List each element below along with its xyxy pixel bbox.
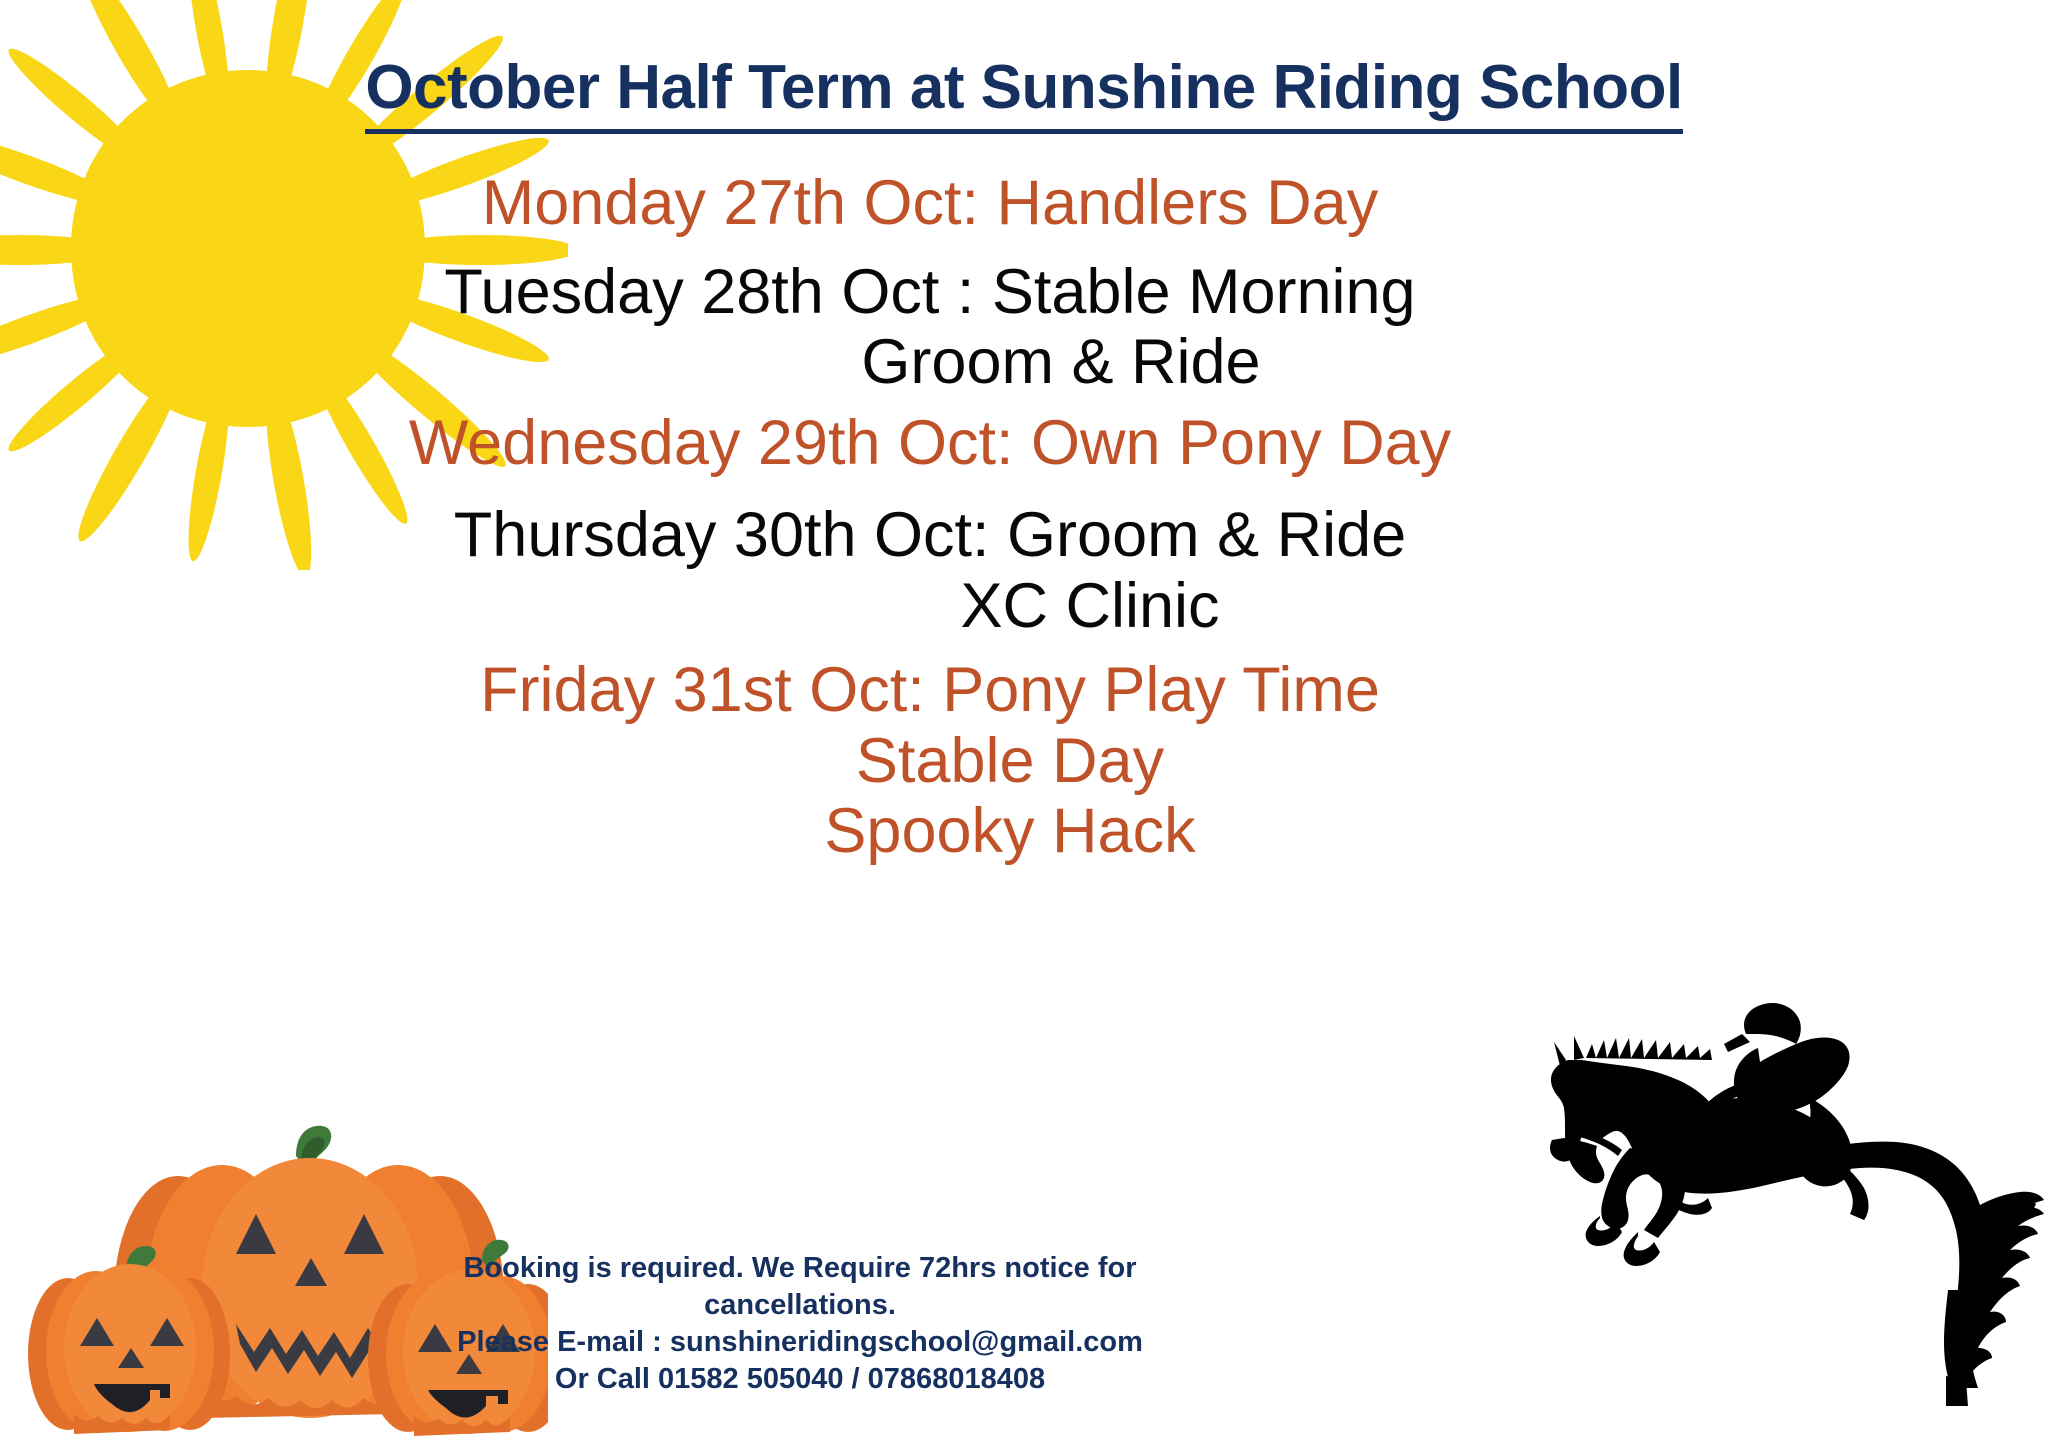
schedule-line-thursday-2: XC Clinic [282,571,1578,642]
spacer [282,641,1578,655]
schedule-list: Monday 27th Oct: Handlers Day Tuesday 28… [282,168,1578,867]
schedule-line-tuesday-1: Tuesday 28th Oct : Stable Morning [282,257,1578,328]
booking-notice: Booking is required. We Require 72hrs no… [430,1250,1170,1324]
page-title: October Half Term at Sunshine Riding Sch… [0,52,2048,134]
schedule-item-wednesday: Wednesday 29th Oct: Own Pony Day [282,408,1578,479]
schedule-item-monday: Monday 27th Oct: Handlers Day [282,168,1578,239]
schedule-item-friday: Friday 31st Oct: Pony Play Time Stable D… [282,655,1578,867]
spacer [282,239,1578,257]
schedule-line-thursday-1: Thursday 30th Oct: Groom & Ride [282,500,1578,571]
page-title-text: October Half Term at Sunshine Riding Sch… [365,52,1682,134]
spacer [282,398,1578,408]
poster-canvas: October Half Term at Sunshine Riding Sch… [0,0,2048,1448]
schedule-line-wednesday-1: Wednesday 29th Oct: Own Pony Day [282,408,1578,479]
pumpkin-left [28,1246,230,1434]
schedule-line-friday-1: Friday 31st Oct: Pony Play Time [282,655,1578,726]
schedule-line-tuesday-2: Groom & Ride [282,327,1578,398]
email-line[interactable]: Please E-mail : sunshineridingschool@gma… [430,1324,1170,1361]
schedule-item-tuesday: Tuesday 28th Oct : Stable Morning Groom … [282,257,1578,398]
schedule-line-monday-1: Monday 27th Oct: Handlers Day [282,168,1578,239]
schedule-line-friday-2: Stable Day [282,726,1578,797]
schedule-line-friday-3: Spooky Hack [282,796,1578,867]
phone-line[interactable]: Or Call 01582 505040 / 07868018408 [430,1361,1170,1398]
spacer [282,478,1578,500]
show-jumping-horse-and-rider-silhouette-icon [1508,990,2048,1410]
schedule-item-thursday: Thursday 30th Oct: Groom & Ride XC Clini… [282,500,1578,641]
contact-block: Booking is required. We Require 72hrs no… [430,1250,1170,1398]
